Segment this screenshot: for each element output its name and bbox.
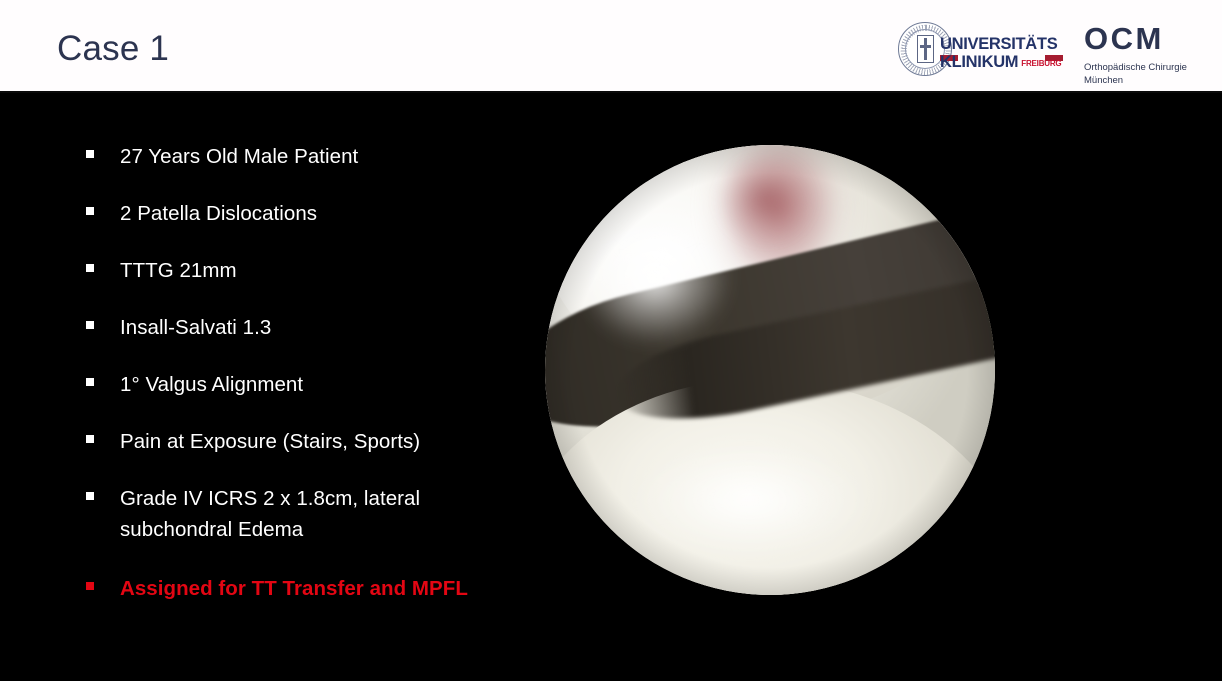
list-item: 2 Patella Dislocations: [84, 198, 524, 229]
scope-vignette: [545, 145, 995, 595]
list-item: Pain at Exposure (Stairs, Sports): [84, 426, 524, 457]
arthroscopy-photo: [540, 141, 1000, 601]
bullet-list: 27 Years Old Male Patient 2 Patella Disl…: [84, 141, 524, 630]
list-item-label: 2 Patella Dislocations: [120, 202, 317, 225]
list-item-highlighted: Assigned for TT Transfer and MPFL: [84, 573, 524, 604]
freiburg-line1: UNIVERSITÄTS: [940, 36, 1063, 53]
list-item-label: Grade IV ICRS 2 x 1.8cm, lateral subchon…: [120, 487, 420, 541]
square-bullet-icon: [86, 582, 94, 590]
square-bullet-icon: [86, 264, 94, 272]
ocm-subtitle-line1: Orthopädische Chirurgie: [1084, 62, 1209, 75]
slide-header: Case 1 UNIVERSITÄTS KLINIKUM FREIBURG OC…: [0, 0, 1222, 93]
arthroscopy-circular-view: [545, 145, 995, 595]
square-bullet-icon: [86, 435, 94, 443]
freiburg-wordmark: UNIVERSITÄTS KLINIKUM FREIBURG: [940, 36, 1063, 71]
seal-crest-icon: [917, 35, 934, 63]
ocm-wordmark: OCM: [1084, 22, 1209, 55]
square-bullet-icon: [86, 492, 94, 500]
list-item-label: Insall-Salvati 1.3: [120, 316, 271, 339]
square-bullet-icon: [86, 321, 94, 329]
presentation-slide: Case 1 UNIVERSITÄTS KLINIKUM FREIBURG OC…: [0, 0, 1222, 681]
list-item-label: 27 Years Old Male Patient: [120, 145, 358, 168]
freiburg-city-label: FREIBURG: [1021, 58, 1061, 71]
freiburg-line2-row: KLINIKUM FREIBURG: [940, 54, 1063, 71]
list-item-label: 1° Valgus Alignment: [120, 373, 303, 396]
ocm-logo: OCM Orthopädische Chirurgie München: [1084, 22, 1209, 87]
list-item: TTTG 21mm: [84, 255, 524, 286]
list-item-label: Pain at Exposure (Stairs, Sports): [120, 430, 420, 453]
list-item: 1° Valgus Alignment: [84, 369, 524, 400]
square-bullet-icon: [86, 207, 94, 215]
list-item-label: Assigned for TT Transfer and MPFL: [120, 577, 468, 600]
slide-body: 27 Years Old Male Patient 2 Patella Disl…: [0, 93, 1222, 681]
list-item: Insall-Salvati 1.3: [84, 312, 524, 343]
ocm-subtitle-line2: München: [1084, 75, 1209, 88]
freiburg-line2: KLINIKUM: [940, 54, 1018, 71]
square-bullet-icon: [86, 378, 94, 386]
list-item: 27 Years Old Male Patient: [84, 141, 524, 172]
list-item-label: TTTG 21mm: [120, 259, 237, 282]
list-item: Grade IV ICRS 2 x 1.8cm, lateral subchon…: [84, 483, 524, 545]
scope-rim-notch: [923, 172, 946, 190]
universitaetsklinikum-freiburg-logo: UNIVERSITÄTS KLINIKUM FREIBURG: [898, 22, 1063, 78]
square-bullet-icon: [86, 150, 94, 158]
page-title: Case 1: [57, 28, 169, 70]
